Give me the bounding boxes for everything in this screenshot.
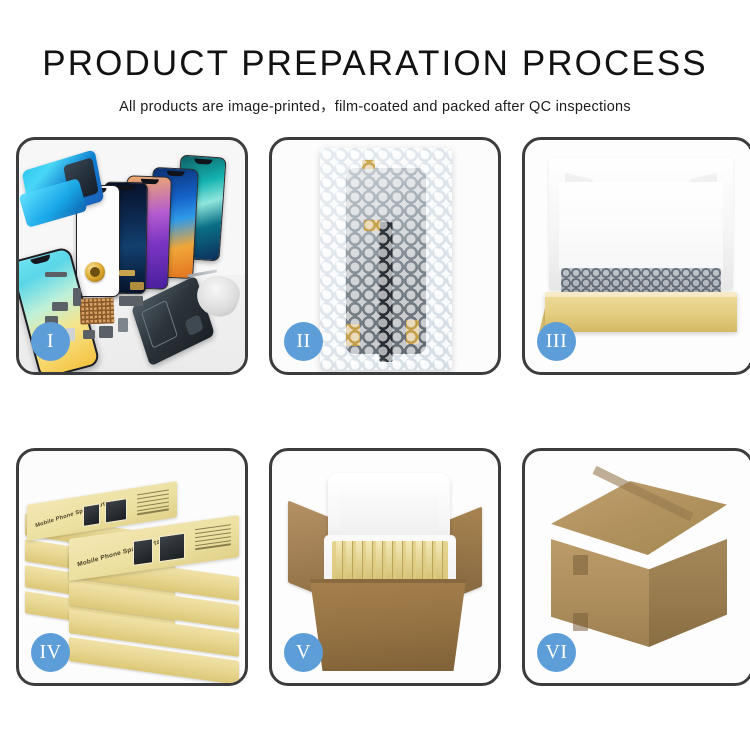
carton-handle-tab-lower	[573, 613, 588, 631]
process-step-2[interactable]: II	[269, 137, 501, 375]
flex-cable-component	[119, 296, 143, 306]
chip-component	[130, 282, 144, 290]
step-badge-2: II	[284, 322, 323, 361]
box-window-photo	[105, 498, 127, 523]
chip-component	[99, 326, 113, 338]
outer-carton	[310, 579, 466, 671]
copper-mesh-component	[80, 297, 115, 324]
process-step-5[interactable]: V	[269, 448, 501, 686]
step-badge-3: III	[537, 322, 576, 361]
chip-component	[45, 272, 67, 277]
chip-component	[118, 318, 128, 332]
process-step-4[interactable]: Mobile Phone Spare Parts Mobile	[16, 448, 248, 686]
bubble-wrap-bag	[320, 148, 452, 370]
step-badge-4: IV	[31, 633, 70, 672]
step-badge-1: I	[31, 322, 70, 361]
box-window-photo	[133, 538, 153, 566]
page-subtitle: All products are image-printed，film-coat…	[0, 81, 750, 116]
chip-component	[73, 288, 81, 306]
carton-side-face	[649, 539, 727, 647]
gold-connector-tab	[406, 320, 419, 344]
box-spec-lines	[137, 489, 169, 517]
page-title: PRODUCT PREPARATION PROCESS	[0, 0, 750, 81]
process-step-3[interactable]: III	[522, 137, 750, 375]
chip-component	[119, 270, 135, 276]
box-window-photo	[83, 503, 100, 527]
carton-front-face	[551, 539, 649, 647]
chip-component	[52, 302, 68, 311]
box-window-photo	[159, 533, 185, 563]
process-step-6[interactable]: VI	[522, 448, 750, 686]
gold-connector-tab	[364, 220, 380, 231]
step-badge-5: V	[284, 633, 323, 672]
gold-connector-tab	[346, 324, 360, 346]
box-spec-lines	[195, 524, 231, 552]
yellow-box-tray	[545, 292, 737, 332]
process-step-grid: I II	[16, 137, 734, 686]
process-step-1[interactable]: I	[16, 137, 248, 375]
carton-handle-tab-upper	[573, 555, 588, 575]
step-badge-6: VI	[537, 633, 576, 672]
flex-cable-strip	[380, 222, 393, 362]
gold-coil-component	[85, 262, 105, 282]
gold-connector-tab	[362, 160, 375, 169]
product-preparation-infographic: PRODUCT PREPARATION PROCESS All products…	[0, 0, 750, 750]
chip-component	[83, 330, 95, 339]
header: PRODUCT PREPARATION PROCESS All products…	[0, 0, 750, 116]
white-foam-sheet	[559, 182, 723, 270]
